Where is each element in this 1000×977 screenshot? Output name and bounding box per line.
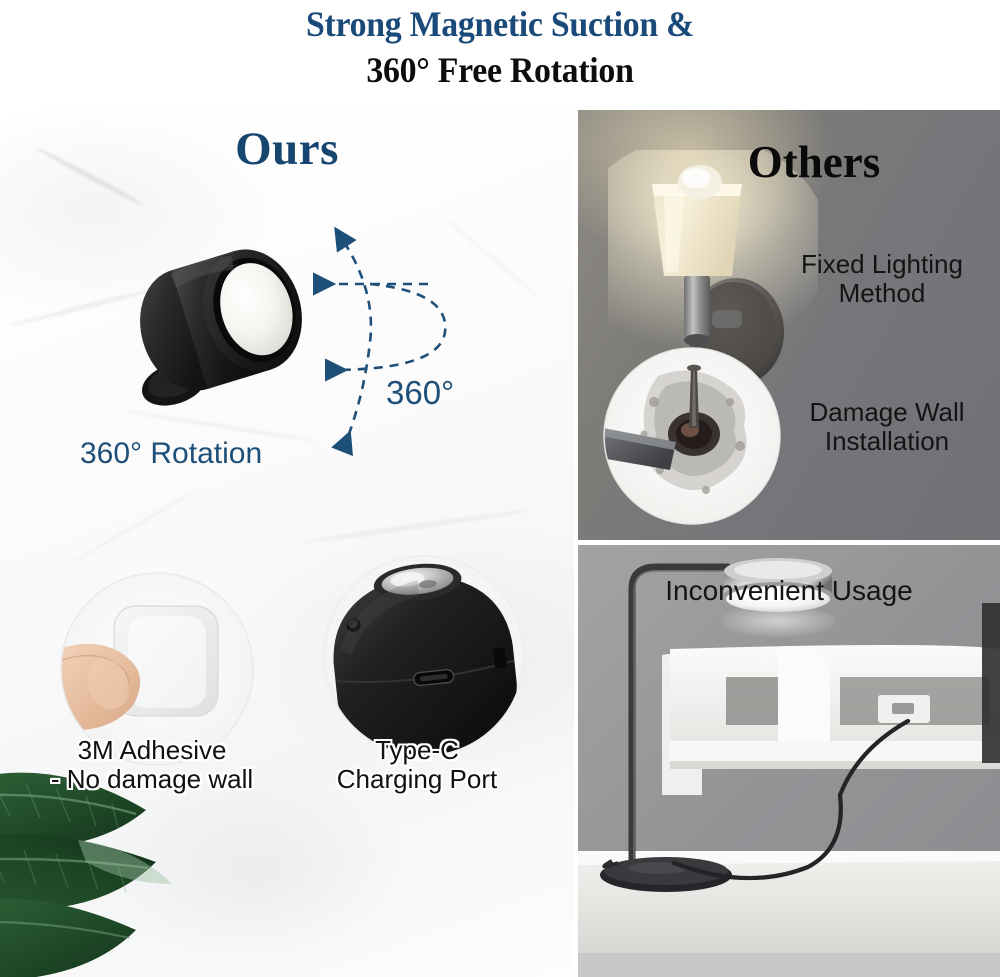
usbc-caption: Type-C Charging Port xyxy=(272,736,562,794)
damage-wall-text: Damage Wall Installation xyxy=(809,397,964,456)
rotation-caption: 360° Rotation xyxy=(80,437,262,471)
page-title: Strong Magnetic Suction & 360° Free Rota… xyxy=(0,0,1000,104)
adhesive-caption-line-1: 3M Adhesive xyxy=(0,736,312,765)
rotation-arrow-icon xyxy=(300,222,550,472)
inconvenient-usage-label: Inconvenient Usage xyxy=(578,575,1000,606)
marble-vein xyxy=(69,487,201,565)
inconvenient-usage-text: Inconvenient Usage xyxy=(665,575,913,606)
usbc-caption-line-2: Charging Port xyxy=(272,765,562,794)
marble-vein xyxy=(301,508,529,545)
ours-panel: Ours xyxy=(0,104,574,977)
others-panel-top: Others Fixed Lighting Method Damage Wall… xyxy=(578,110,1000,540)
infographic-root: Strong Magnetic Suction & 360° Free Rota… xyxy=(0,0,1000,977)
adhesive-caption-line-2: - No damage wall xyxy=(0,765,312,794)
adhesive-caption: 3M Adhesive - No damage wall xyxy=(0,736,312,794)
fixed-lighting-label: Fixed Lighting Method xyxy=(764,250,1000,308)
puck-light-hero-image xyxy=(128,232,314,412)
title-line-1: Strong Magnetic Suction & xyxy=(30,6,970,42)
ours-heading: Ours xyxy=(0,122,574,176)
damage-wall-label: Damage Wall Installation xyxy=(774,398,1000,456)
title-line-2: 360° Free Rotation xyxy=(30,52,970,88)
others-panel-bottom: Inconvenient Usage xyxy=(578,545,1000,977)
damaged-wall-image xyxy=(598,342,786,530)
others-heading: Others xyxy=(578,136,1000,188)
usbc-caption-line-1: Type-C xyxy=(272,736,562,765)
rotation-degree-badge: 360° xyxy=(386,374,454,412)
fixed-lighting-text: Fixed Lighting Method xyxy=(801,249,963,308)
desk-lamp-image xyxy=(578,545,1000,977)
